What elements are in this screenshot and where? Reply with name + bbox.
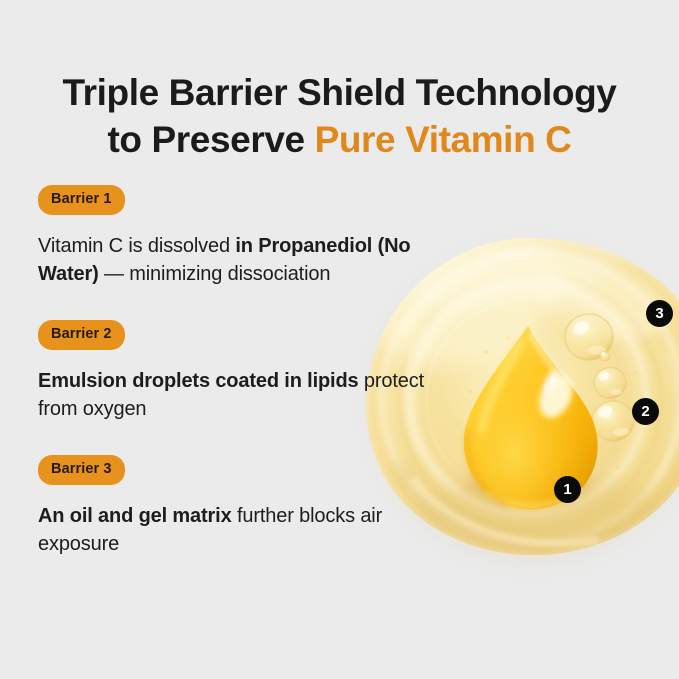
barrier-badge-2: Barrier 2: [38, 320, 125, 350]
marker-badge-3: 3: [646, 300, 673, 327]
barrier-badge-1: Barrier 1: [38, 185, 125, 215]
gel-bubbles: [565, 314, 634, 441]
barrier-badge-3: Barrier 3: [38, 455, 125, 485]
title-line-2-prefix: to Preserve: [108, 119, 315, 160]
title-line-1: Triple Barrier Shield Technology: [0, 69, 679, 116]
barrier-block-1: Barrier 1 Vitamin C is dissolved in Prop…: [38, 185, 430, 308]
marker-badge-2: 2: [632, 398, 659, 425]
barrier-description-1: Vitamin C is dissolved in Propanediol (N…: [38, 232, 430, 288]
title-line-2: to Preserve Pure Vitamin C: [0, 116, 679, 163]
barrier-description-3: An oil and gel matrix further blocks air…: [38, 502, 430, 558]
infographic-canvas: Triple Barrier Shield Technology to Pres…: [0, 0, 679, 679]
barrier-block-2: Barrier 2 Emulsion droplets coated in li…: [38, 320, 430, 443]
marker-badge-1: 1: [554, 476, 581, 503]
page-title: Triple Barrier Shield Technology to Pres…: [0, 69, 679, 163]
barrier-description-2: Emulsion droplets coated in lipids prote…: [38, 367, 430, 423]
barrier-3-segment-1: An oil and gel matrix: [38, 505, 232, 527]
barrier-block-3: Barrier 3 An oil and gel matrix further …: [38, 455, 430, 578]
barrier-1-segment-1: Vitamin C is dissolved: [38, 235, 235, 257]
barrier-2-segment-1: Emulsion droplets coated in lipids: [38, 370, 359, 392]
barrier-1-segment-3: — minimizing dissociation: [99, 263, 331, 285]
title-accent-text: Pure Vitamin C: [315, 119, 572, 160]
